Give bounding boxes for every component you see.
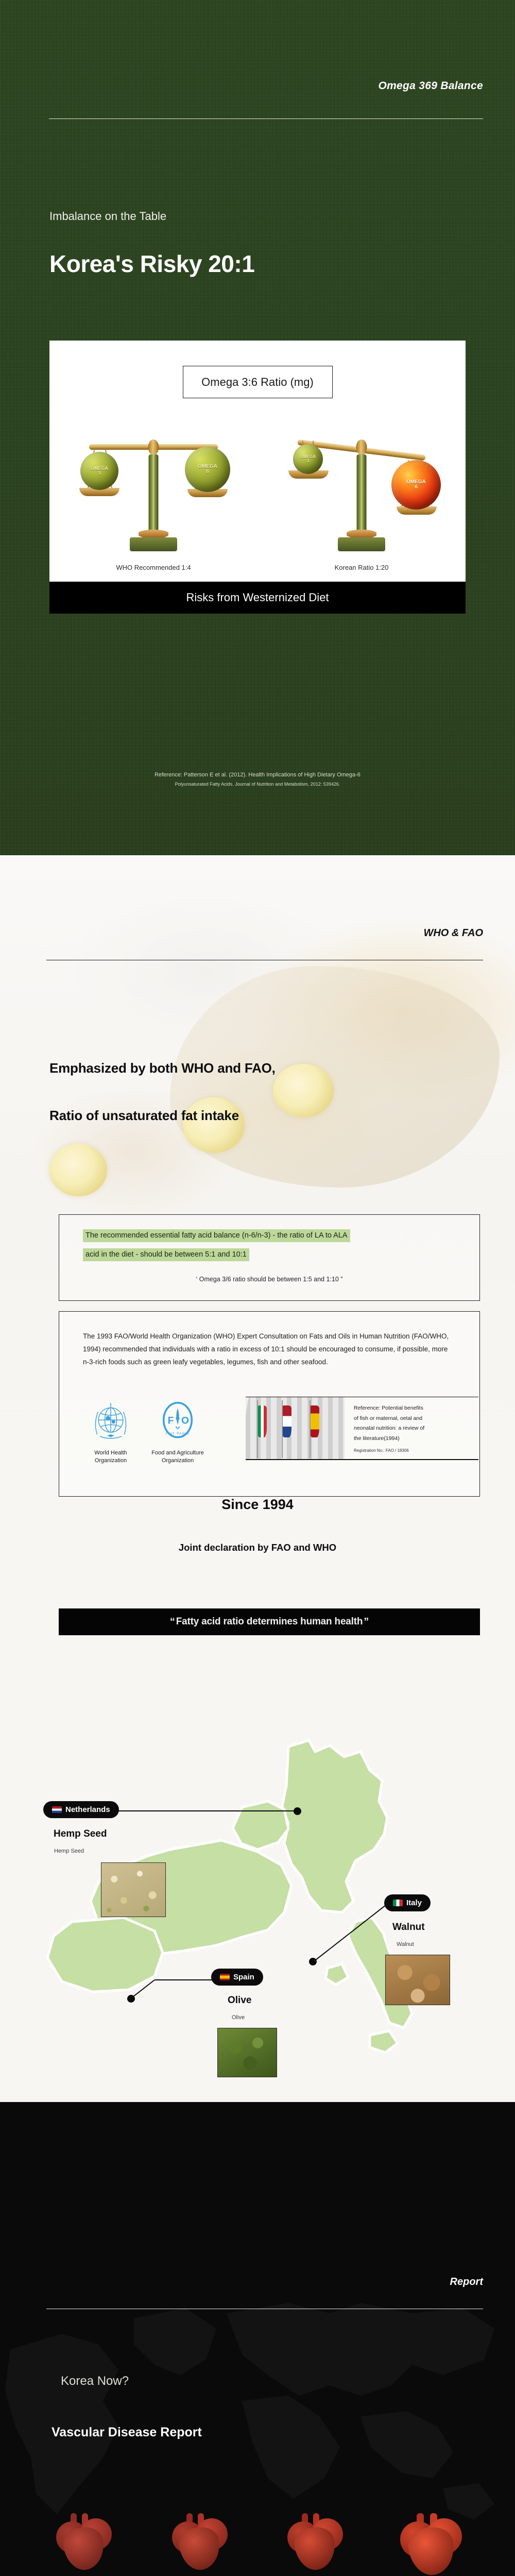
omega3-ball-who: OMEGA 3 — [80, 452, 118, 490]
since-title: Since 1994 — [0, 1497, 515, 1513]
heart-timeline-row: 2014 2016 — [0, 2514, 515, 2576]
who-logo-caption: World Health Organization — [83, 1449, 139, 1465]
fao-ref-line2: of fish or maternal, oetal and — [354, 1414, 474, 1423]
recommendation-line2-wrap: acid in the diet - should be between 5:1… — [83, 1248, 479, 1261]
fao-building-photo — [246, 1397, 345, 1459]
netherlands-flag-icon — [52, 1806, 62, 1813]
risk-banner: Risks from Westernized Diet — [49, 582, 466, 614]
scale-column — [357, 454, 367, 532]
svg-text:FIAT PANIS: FIAT PANIS — [166, 1432, 190, 1435]
scale-column — [149, 454, 159, 532]
scale-who: OMEGA 3 OMEGA 6 — [49, 398, 257, 553]
heart-icon — [171, 2514, 229, 2572]
omega6-ball-who: OMEGA 6 — [185, 447, 230, 492]
recommendation-box: The recommended essential fatty acid bal… — [59, 1214, 480, 1301]
fao-card-bottom-rule — [246, 1459, 478, 1460]
world-map-background — [0, 2272, 515, 2540]
heart-timeline-item: 2024 — [392, 2514, 470, 2576]
fao-reference-text: Reference: Potential benefits of fish or… — [345, 1397, 478, 1459]
scale-base — [130, 537, 177, 551]
scale-caption-who: WHO Recommended 1:4 — [116, 564, 191, 571]
section-europe-map: Netherlands Hemp Seed Hemp Seed Italy Wa… — [0, 1680, 515, 2102]
map-thumb-hemp-seed — [101, 1862, 166, 1917]
heart-timeline-item: 2014 — [45, 2514, 123, 2576]
fao-logo-icon: F O FIAT PANIS — [155, 1398, 200, 1444]
map-chip-country: Spain — [233, 1973, 254, 1981]
hero-section-label: Omega 369 Balance — [378, 80, 483, 92]
page-title: Korea's Risky 20:1 — [49, 250, 254, 278]
map-sub-italy: Walnut — [397, 1941, 414, 1947]
lemon-slice-icon — [183, 1097, 245, 1153]
report-title: Vascular Disease Report — [51, 2425, 202, 2440]
heart-icon — [399, 2514, 463, 2576]
fao-who-consultation-box: The 1993 FAO/World Health Organization (… — [59, 1311, 480, 1497]
spain-flag-icon — [311, 1405, 319, 1437]
map-chip-netherlands[interactable]: Netherlands — [43, 1801, 119, 1818]
spain-flag-icon — [220, 1974, 230, 1980]
quote-text: Fatty acid ratio determines human health — [176, 1616, 363, 1628]
heart-timeline-item: 2020 — [277, 2514, 354, 2576]
who-logo-icon — [88, 1398, 133, 1444]
report-kicker: Korea Now? — [61, 2374, 129, 2388]
who-section-label: WHO & FAO — [423, 927, 483, 939]
map-connector-netherlands — [109, 1810, 296, 1811]
scale-captions-row: WHO Recommended 1:4 Korean Ratio 1:20 — [49, 553, 466, 582]
hero-reference: Reference: Patterson E et al. (2012). He… — [0, 772, 515, 787]
quote-close-mark: ” — [364, 1616, 369, 1628]
map-sub-netherlands: Hemp Seed — [54, 1848, 84, 1854]
balance-scales-row: OMEGA 3 OMEGA 6 — [49, 398, 466, 553]
map-title-spain: Olive — [228, 1995, 251, 2006]
omega3-ball-korea: OMEGA 3 — [293, 444, 323, 474]
scale-base — [338, 537, 385, 551]
report-section-label: Report — [450, 2276, 483, 2288]
heart-icon — [55, 2514, 113, 2572]
fao-reference-card: Reference: Potential benefits of fish or… — [246, 1397, 478, 1460]
recommendation-line1: The recommended essential fatty acid bal… — [83, 1229, 350, 1242]
svg-text:F: F — [168, 1415, 174, 1426]
scale-knob — [356, 439, 367, 455]
organization-logos: World Health Organization F O FIAT PANIS… — [83, 1398, 205, 1465]
since-block: Since 1994 Joint declaration by FAO and … — [0, 1497, 515, 1553]
map-sub-spain: Olive — [232, 2014, 245, 2021]
italy-flag-icon — [393, 1900, 403, 1906]
map-title-netherlands: Hemp Seed — [54, 1828, 107, 1840]
netherlands-flag-icon — [283, 1405, 291, 1437]
report-divider — [46, 2309, 483, 2309]
fao-logo-block: F O FIAT PANIS Food and Agriculture Orga… — [150, 1398, 205, 1465]
fao-card-inner: Reference: Potential benefits of fish or… — [246, 1397, 478, 1459]
fao-ref-line3: neonatal nutrition: a review of — [354, 1423, 474, 1433]
map-connector-spain-2 — [154, 1979, 213, 1980]
who-logo-block: World Health Organization — [83, 1398, 139, 1465]
fao-ref-line1: Reference: Potential benefits — [354, 1403, 474, 1413]
heart-timeline-item: 2016 — [161, 2514, 238, 2576]
fao-registration-no: Registration No.: FAO / 18306 — [354, 1448, 474, 1453]
since-subtitle: Joint declaration by FAO and WHO — [0, 1542, 515, 1553]
omega-ratio-chart-card: Omega 3:6 Ratio (mg) — [49, 341, 466, 614]
omega6-ball-korea: OMEGA 6 — [391, 460, 441, 510]
omega6-ball-number: 6 — [206, 469, 209, 475]
who-divider — [46, 960, 483, 960]
scale-knob — [148, 439, 159, 455]
heart-icon — [286, 2514, 344, 2572]
lemon-slice-icon — [49, 1144, 107, 1196]
hero-reference-line1: Reference: Patterson E et al. (2012). He… — [0, 772, 515, 778]
fao-ref-line4: the literature(1994) — [354, 1434, 474, 1444]
recommendation-line1-wrap: The recommended essential fatty acid bal… — [83, 1229, 479, 1242]
recommendation-subnote: ‘ Omega 3/6 ratio should be between 1:5 … — [59, 1276, 479, 1283]
map-chip-spain[interactable]: Spain — [211, 1969, 263, 1986]
section-report: Report Korea Now? Vascular Disease Repor… — [0, 2102, 515, 2576]
map-thumb-olive — [217, 2028, 277, 2077]
map-title-italy: Walnut — [392, 1922, 425, 1933]
map-chip-country: Netherlands — [65, 1805, 110, 1814]
italy-flag-icon — [258, 1405, 267, 1437]
hero-kicker: Imbalance on the Table — [49, 210, 166, 223]
lemon-slice-icon — [273, 1064, 334, 1117]
omega6-ball-number: 6 — [415, 485, 418, 490]
recommendation-line2: acid in the diet - should be between 5:1… — [83, 1248, 249, 1261]
section-hero: Omega 369 Balance Imbalance on the Table… — [0, 0, 515, 855]
heart-timeline: 2014 2016 — [0, 2514, 515, 2576]
omega3-ball-number: 3 — [307, 459, 309, 463]
omega3-ball-number: 3 — [98, 471, 100, 476]
who-heading-line2: Ratio of unsaturated fat intake — [49, 1108, 239, 1124]
hero-reference-line2: Polyunsaturated Fatty Acids. Journal of … — [0, 782, 515, 787]
map-thumb-walnut — [385, 1955, 450, 2005]
svg-text:O: O — [181, 1415, 189, 1426]
hero-divider — [49, 118, 483, 119]
who-heading-line1: Emphasized by both WHO and FAO, — [49, 1060, 276, 1076]
scale-caption-korea: Korean Ratio 1:20 — [335, 564, 389, 571]
section-who-fao: WHO & FAO Emphasized by both WHO and FAO… — [0, 855, 515, 1680]
map-chip-italy[interactable]: Italy — [384, 1894, 431, 1911]
consultation-text: The 1993 FAO/World Health Organization (… — [83, 1330, 456, 1369]
fao-logo-caption: Food and Agriculture Organization — [150, 1449, 205, 1465]
map-chip-country: Italy — [406, 1899, 422, 1907]
infographic-page: Omega 369 Balance Imbalance on the Table… — [0, 0, 515, 2576]
chart-legend-box: Omega 3:6 Ratio (mg) — [183, 366, 333, 398]
quote-banner: “ Fatty acid ratio determines human heal… — [59, 1608, 480, 1635]
scale-korea: OMEGA 3 OMEGA 6 — [257, 398, 466, 553]
quote-open-mark: “ — [170, 1616, 175, 1628]
